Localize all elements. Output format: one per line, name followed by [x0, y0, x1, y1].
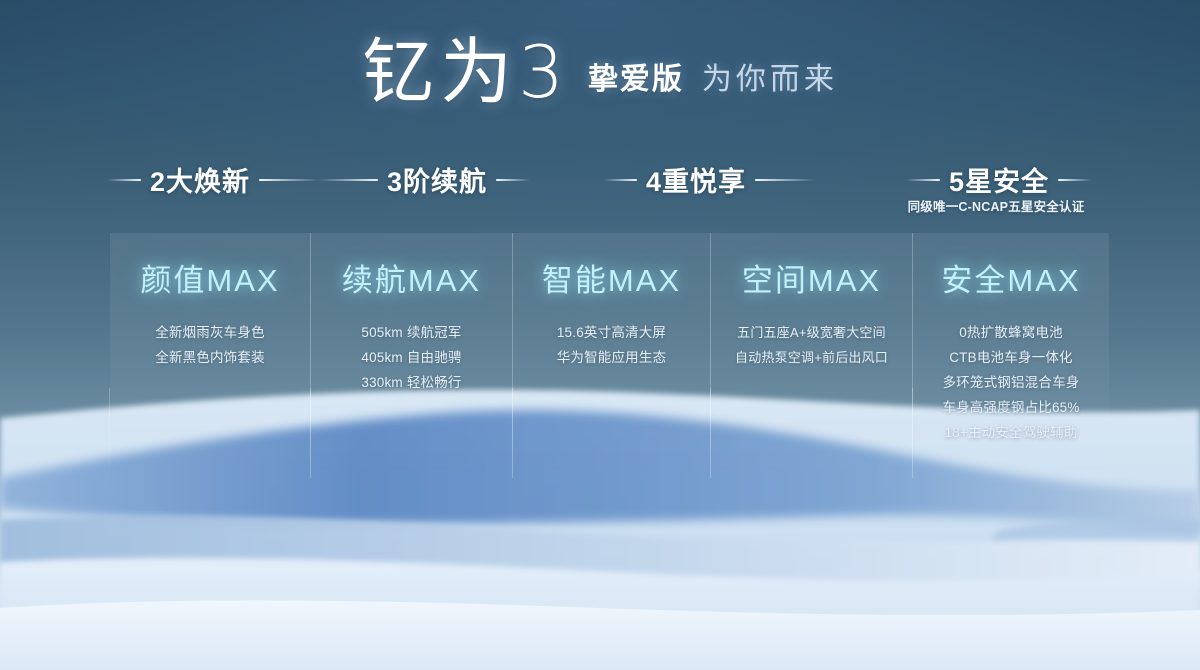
poster-canvas: 钇为3 挚爱版 为你而来 2大焕新 3阶续航 4重悦享 5星安全 同级唯一C-N…: [0, 0, 1200, 670]
tagline-label: 为你而来: [702, 54, 838, 106]
ncap-certification-note: 同级唯一C-NCAP五星安全认证: [893, 196, 1099, 215]
model-logo: 钇为3: [362, 36, 570, 108]
feature-card-appearance[interactable]: 颜值MAX 全新烟雨灰车身色 全新黑色内饰套装: [110, 233, 310, 478]
card-title: 智能MAX: [542, 255, 681, 300]
card-feature-item: 五门五座A+级宽奢大空间: [735, 320, 888, 345]
rule-left-icon: [906, 179, 940, 181]
section-header-2: 3阶续航: [318, 160, 530, 199]
card-feature-item: 0热扩散蜂窝电池: [942, 320, 1079, 345]
feature-card-row: 颜值MAX 全新烟雨灰车身色 全新黑色内饰套装 续航MAX 505km 续航冠军…: [110, 233, 1105, 478]
section-header-1: 2大焕新: [107, 160, 319, 199]
feature-card-intelligence[interactable]: 智能MAX 15.6英寸高清大屏 华为智能应用生态: [512, 233, 710, 478]
section-header-3: 4重悦享: [603, 160, 815, 199]
rule-left-icon: [603, 179, 637, 181]
card-feature-item: 多环笼式钢铝混合车身: [942, 370, 1079, 395]
card-feature-item: 15.6英寸高清大屏: [557, 320, 667, 345]
card-feature-list: 全新烟雨灰车身色 全新黑色内饰套装: [155, 320, 265, 370]
feature-card-space[interactable]: 空间MAX 五门五座A+级宽奢大空间 自动热泵空调+前后出风口: [710, 233, 912, 478]
section-header-4: 5星安全: [906, 160, 1092, 199]
card-feature-item: 330km 轻松畅行: [361, 370, 461, 395]
section-label: 3阶续航: [387, 160, 487, 199]
rule-right-icon: [755, 179, 815, 181]
card-feature-list: 15.6英寸高清大屏 华为智能应用生态: [557, 320, 667, 370]
rule-right-icon: [496, 179, 530, 181]
card-title: 空间MAX: [742, 255, 881, 300]
rule-left-icon: [318, 179, 378, 181]
section-label: 5星安全: [949, 160, 1049, 199]
card-feature-item: 全新烟雨灰车身色: [155, 320, 265, 345]
card-title: 续航MAX: [342, 255, 481, 300]
card-feature-item: 华为智能应用生态: [557, 345, 667, 370]
feature-card-safety[interactable]: 安全MAX 0热扩散蜂窝电池 CTB电池车身一体化 多环笼式钢铝混合车身 车身高…: [912, 233, 1109, 478]
rule-right-icon: [259, 179, 319, 181]
card-feature-item: 全新黑色内饰套装: [155, 345, 265, 370]
rule-right-icon: [1058, 179, 1092, 181]
rule-left-icon: [107, 179, 141, 181]
card-title: 颜值MAX: [140, 255, 279, 300]
section-label: 4重悦享: [646, 160, 746, 199]
card-feature-item: 车身高强度钢占比65%: [942, 395, 1079, 420]
card-feature-list: 0热扩散蜂窝电池 CTB电池车身一体化 多环笼式钢铝混合车身 车身高强度钢占比6…: [942, 320, 1079, 445]
card-feature-item: 自动热泵空调+前后出风口: [735, 345, 888, 370]
card-feature-list: 505km 续航冠军 405km 自由驰骋 330km 轻松畅行: [361, 320, 461, 395]
section-label: 2大焕新: [150, 160, 250, 199]
poster-title: 钇为3 挚爱版 为你而来: [0, 34, 1200, 106]
card-feature-item: 405km 自由驰骋: [361, 345, 461, 370]
edition-label: 挚爱版: [588, 54, 684, 106]
card-feature-item: 18+主动安全驾驶辅助: [942, 420, 1079, 445]
card-feature-list: 五门五座A+级宽奢大空间 自动热泵空调+前后出风口: [735, 320, 888, 370]
feature-card-range[interactable]: 续航MAX 505km 续航冠军 405km 自由驰骋 330km 轻松畅行: [310, 233, 512, 478]
card-title: 安全MAX: [941, 255, 1080, 300]
card-feature-item: CTB电池车身一体化: [942, 345, 1079, 370]
card-feature-item: 505km 续航冠军: [361, 320, 461, 345]
